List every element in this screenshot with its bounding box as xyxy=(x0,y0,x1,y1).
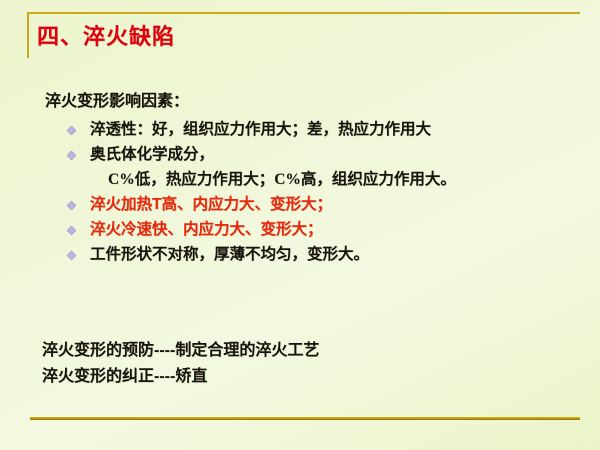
bullet-text: 淬透性：好，组织应力作用大；差，热应力作用大 xyxy=(90,118,600,142)
page-title: 四、淬火缺陷 xyxy=(37,19,175,51)
bottom-divider xyxy=(30,417,580,420)
slide-body: 淬火变形影响因素： 淬透性：好，组织应力作用大；差，热应力作用大 奥氏体化学成分… xyxy=(0,92,600,268)
lead-statement: 淬火变形影响因素： xyxy=(45,92,600,112)
bullet-list: 淬透性：好，组织应力作用大；差，热应力作用大 奥氏体化学成分， C%低，热应力作… xyxy=(0,118,600,267)
list-item: 工件形状不对称，厚薄不均匀，变形大。 xyxy=(0,243,600,267)
bullet-text: 工件形状不对称，厚薄不均匀，变形大。 xyxy=(90,243,600,267)
bullet-subtext: C%低，热应力作用大；C%高，组织应力作用大。 xyxy=(108,167,600,192)
bullet-text-highlight: 淬火加热T高、内应力大、变形大； xyxy=(90,193,600,217)
footer-statements: 淬火变形的预防----制定合理的淬火工艺 淬火变形的纠正----矫直 xyxy=(42,338,319,390)
diamond-bullet-icon xyxy=(67,201,77,211)
footer-line-correction: 淬火变形的纠正----矫直 xyxy=(42,364,319,390)
diamond-bullet-icon xyxy=(67,151,77,161)
footer-line-prevention: 淬火变形的预防----制定合理的淬火工艺 xyxy=(42,338,319,364)
list-item: 淬透性：好，组织应力作用大；差，热应力作用大 xyxy=(0,118,600,142)
title-bracket: 四、淬火缺陷 xyxy=(27,12,580,58)
diamond-bullet-icon xyxy=(67,226,77,236)
diamond-bullet-icon xyxy=(67,126,77,136)
bullet-text: 奥氏体化学成分， xyxy=(90,143,600,167)
bullet-text-highlight: 淬火冷速快、内应力大、变形大； xyxy=(90,218,600,242)
list-item: 奥氏体化学成分， C%低，热应力作用大；C%高，组织应力作用大。 xyxy=(0,143,600,192)
list-item: 淬火冷速快、内应力大、变形大； xyxy=(0,218,600,242)
diamond-bullet-icon xyxy=(67,251,77,261)
list-item: 淬火加热T高、内应力大、变形大； xyxy=(0,193,600,217)
slide-canvas: 四、淬火缺陷 淬火变形影响因素： 淬透性：好，组织应力作用大；差，热应力作用大 … xyxy=(0,0,600,450)
